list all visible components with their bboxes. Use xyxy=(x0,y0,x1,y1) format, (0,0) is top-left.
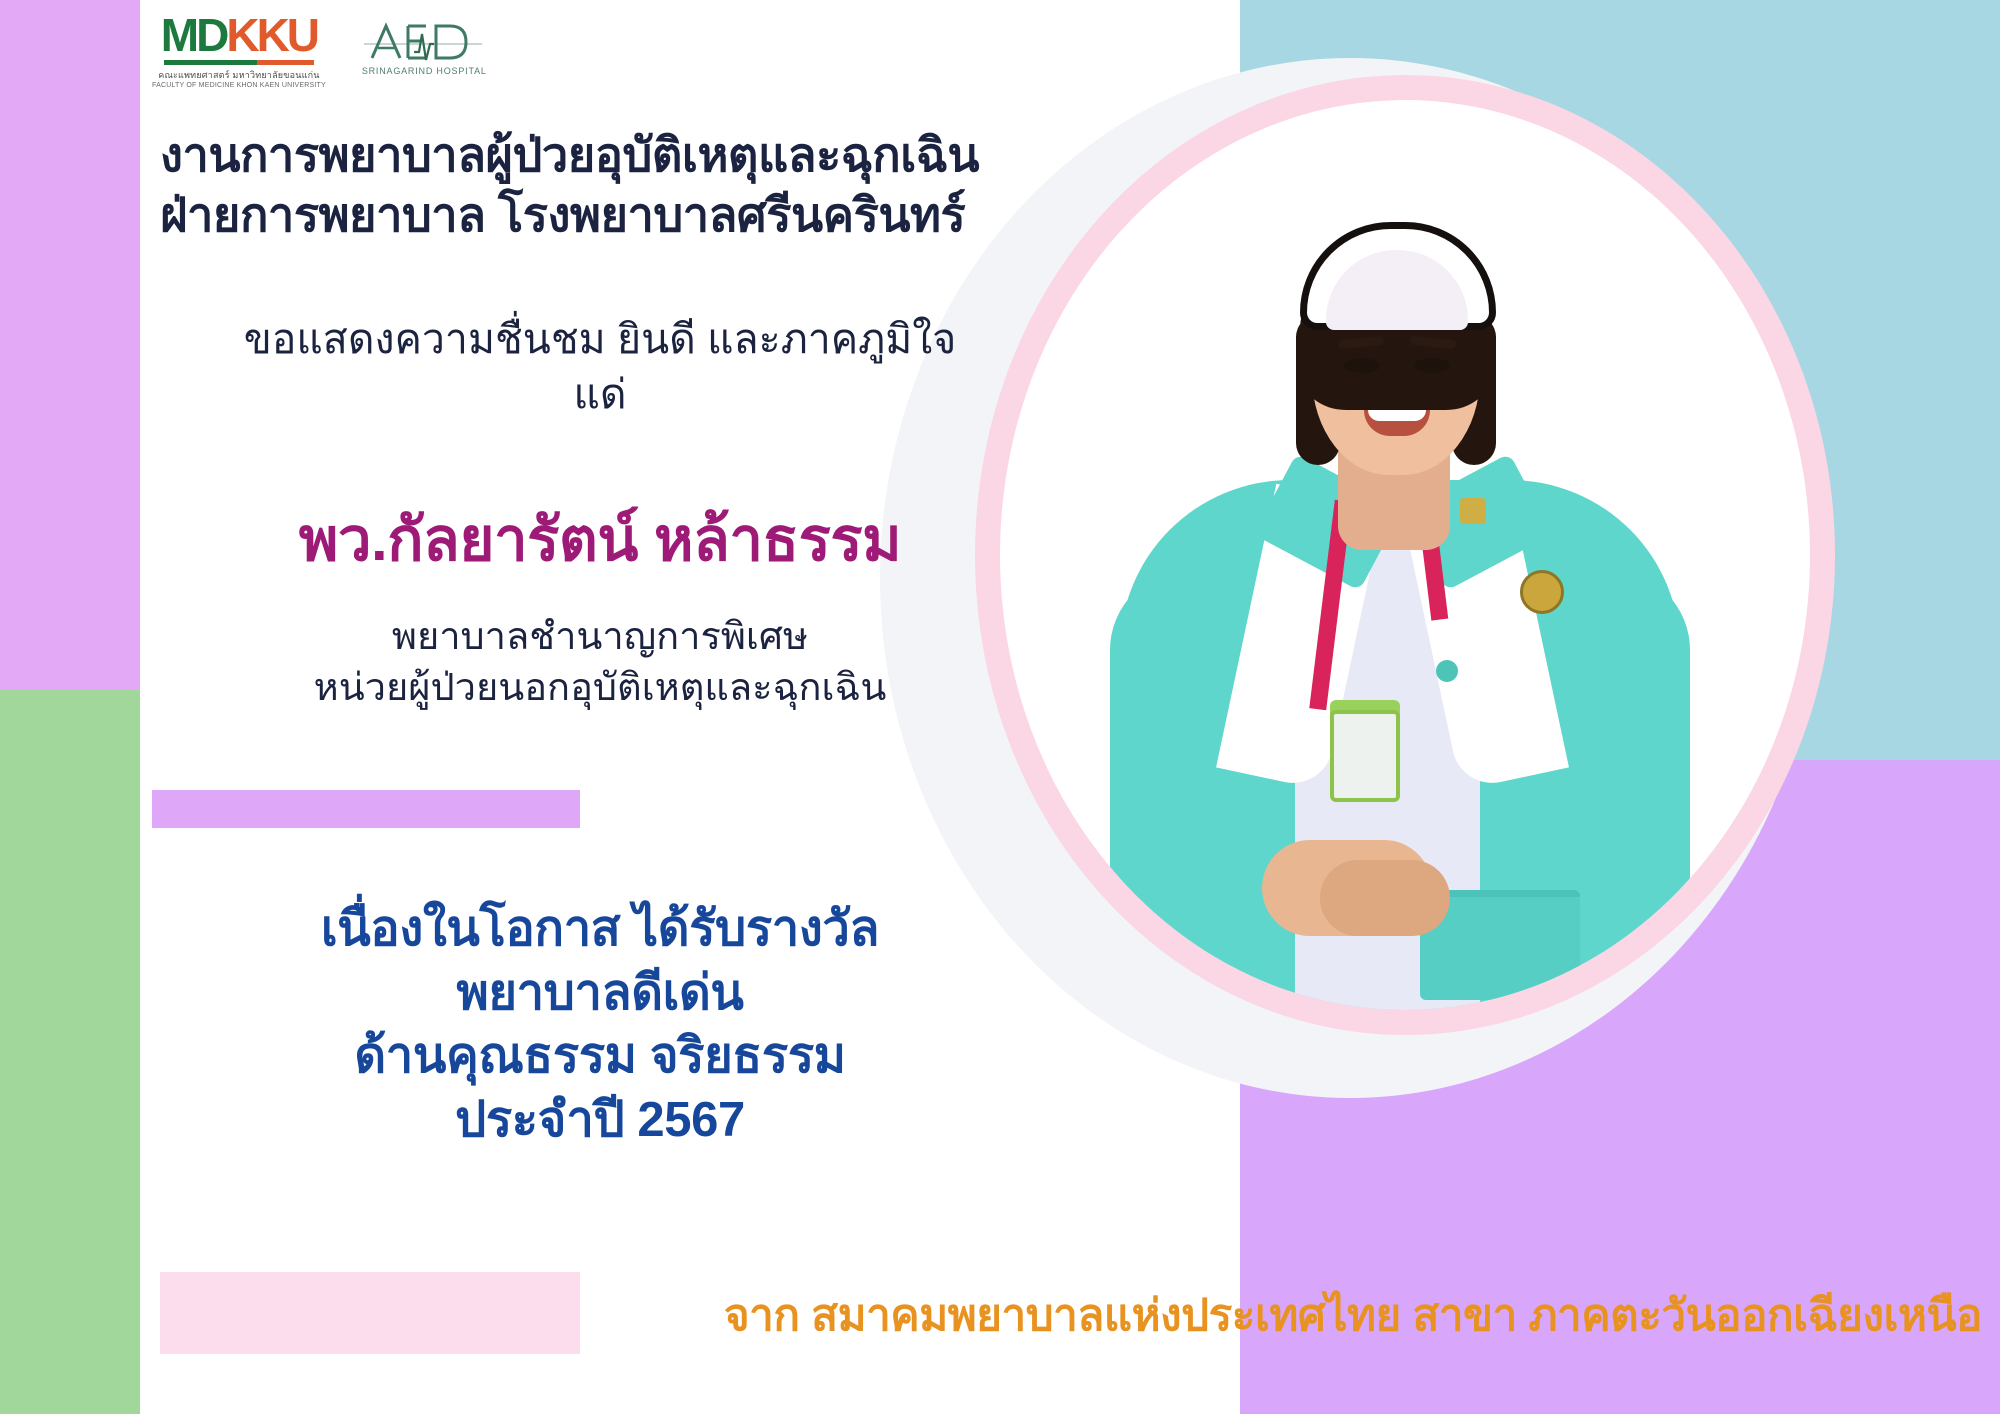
mdkku-english-caption: FACULTY OF MEDICINE KHON KAEN UNIVERSITY xyxy=(152,82,326,89)
poster-canvas: MDKKU คณะแพทยศาสตร์ มหาวิทยาลัยขอนแก่น F… xyxy=(0,0,2000,1414)
award-line-3: ด้านคุณธรรม จริยธรรม xyxy=(150,1025,1050,1089)
aed-english-caption: SRINAGARIND HOSPITAL xyxy=(362,66,487,76)
mdkku-logo: MDKKU คณะแพทยศาสตร์ มหาวิทยาลัยขอนแก่น F… xyxy=(152,12,326,89)
award-line-1: เนื่องในโอกาส ได้รับรางวัล xyxy=(150,898,1050,962)
background-block-left-purple xyxy=(0,0,140,690)
nurse-teeth xyxy=(1368,410,1426,421)
mdkku-md-mark: MD xyxy=(161,12,227,58)
honoree-unit: หน่วยผู้ป่วยนอกอุบัติเหตุและฉุกเฉิน xyxy=(150,663,1050,714)
honoree-role: พยาบาลชำนาญการพิเศษ หน่วยผู้ป่วยนอกอุบัต… xyxy=(150,612,1050,715)
awarding-body-footer: จาก สมาคมพยาบาลแห่งประเทศไทย สาขา ภาคตะว… xyxy=(150,1280,2000,1350)
page-title-line-2: ฝ่ายการพยาบาล โรงพยาบาลศรีนครินทร์ xyxy=(160,185,1040,245)
logo-row: MDKKU คณะแพทยศาสตร์ มหาวิทยาลัยขอนแก่น F… xyxy=(152,12,487,89)
nurse-hand-overlap xyxy=(1320,860,1450,936)
award-text: เนื่องในโอกาส ได้รับรางวัล พยาบาลดีเด่น … xyxy=(150,898,1050,1153)
aed-mark-icon xyxy=(364,18,484,62)
nurse-emblem-pin xyxy=(1520,570,1564,614)
award-line-4: ประจำปี 2567 xyxy=(150,1089,1050,1153)
mdkku-kku-mark: KKU xyxy=(226,12,317,58)
mdkku-thai-caption: คณะแพทยศาสตร์ มหาวิทยาลัยขอนแก่น xyxy=(158,68,319,82)
page-title: งานการพยาบาลผู้ป่วยอุบัติเหตุและฉุกเฉิน … xyxy=(160,125,1040,245)
nurse-eye-right xyxy=(1414,358,1450,373)
accent-bar-purple xyxy=(152,790,580,828)
mdkku-underline-rule xyxy=(164,60,314,65)
nurse-portrait-illustration xyxy=(1000,100,1810,1010)
page-title-line-1: งานการพยาบาลผู้ป่วยอุบัติเหตุและฉุกเฉิน xyxy=(160,125,1040,185)
nurse-name-pin xyxy=(1460,498,1486,524)
congratulation-line-2: แด่ xyxy=(150,367,1050,422)
mdkku-wordmark: MDKKU xyxy=(161,12,317,58)
congratulation-line-1: ขอแสดงความชื่นชม ยินดี และภาคภูมิใจ xyxy=(150,312,1050,367)
honoree-name: พว.กัลยารัตน์ หล้าธรรม xyxy=(150,505,1050,574)
nurse-jacket-button xyxy=(1436,660,1458,682)
award-line-2: พยาบาลดีเด่น xyxy=(150,962,1050,1026)
honoree-position: พยาบาลชำนาญการพิเศษ xyxy=(150,612,1050,663)
background-block-left-green xyxy=(0,690,140,1414)
portrait-photo xyxy=(1000,100,1810,1010)
nurse-eye-left xyxy=(1344,358,1380,373)
congratulation-text: ขอแสดงความชื่นชม ยินดี และภาคภูมิใจ แด่ xyxy=(150,312,1050,423)
nurse-id-badge xyxy=(1330,710,1400,802)
aed-logo: SRINAGARIND HOSPITAL xyxy=(362,18,487,76)
